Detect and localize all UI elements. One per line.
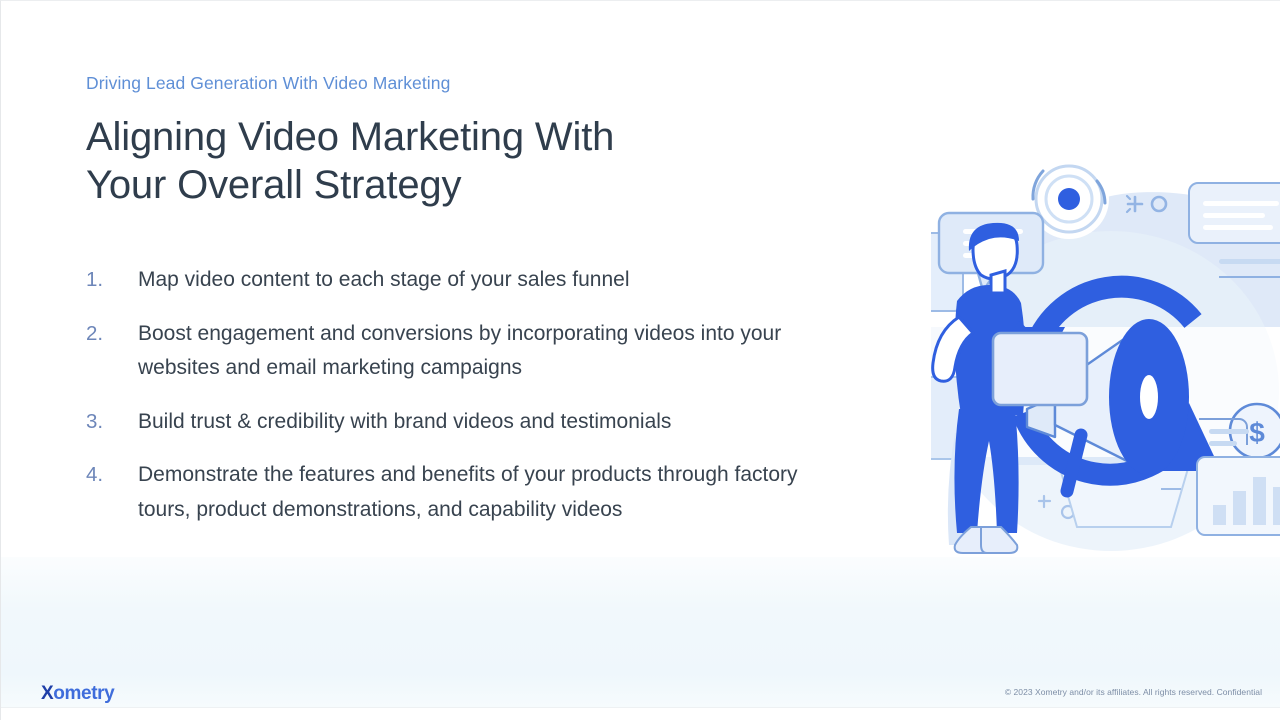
list-item: 2. Boost engagement and conversions by i… (86, 317, 916, 386)
list-item-text: Map video content to each stage of your … (138, 263, 629, 298)
list-item-text: Boost engagement and conversions by inco… (138, 317, 828, 386)
list-item-text: Build trust & credibility with brand vid… (138, 405, 671, 440)
numbered-list: 1. Map video content to each stage of yo… (86, 263, 916, 546)
list-item-number: 4. (86, 458, 138, 492)
video-marketing-illustration: $ (931, 141, 1280, 561)
copyright-notice: © 2023 Xometry and/or its affiliates. Al… (1005, 687, 1262, 697)
logo-mark: X (41, 683, 53, 704)
headline-line-2: Your Overall Strategy (86, 161, 916, 209)
bottom-edge (1, 707, 1280, 720)
lower-gradient-band (1, 557, 1280, 707)
list-item: 4. Demonstrate the features and benefits… (86, 458, 916, 527)
slide-canvas: $ Driving Lead Generation With Video (0, 0, 1280, 720)
list-item: 1. Map video content to each stage of yo… (86, 263, 916, 298)
eyebrow-text: Driving Lead Generation With Video Marke… (86, 73, 916, 94)
headline-line-1: Aligning Video Marketing With (86, 113, 916, 161)
list-item-number: 1. (86, 263, 138, 297)
list-item-text: Demonstrate the features and benefits of… (138, 458, 828, 527)
list-item-number: 3. (86, 405, 138, 439)
svg-text:$: $ (1249, 417, 1265, 448)
slide-header: Driving Lead Generation With Video Marke… (86, 73, 916, 209)
xometry-logo: Xometry (41, 684, 114, 703)
list-item-number: 2. (86, 317, 138, 351)
logo-wordmark: ometry (53, 683, 114, 704)
page-title: Aligning Video Marketing With Your Overa… (86, 113, 916, 209)
list-item: 3. Build trust & credibility with brand … (86, 405, 916, 440)
